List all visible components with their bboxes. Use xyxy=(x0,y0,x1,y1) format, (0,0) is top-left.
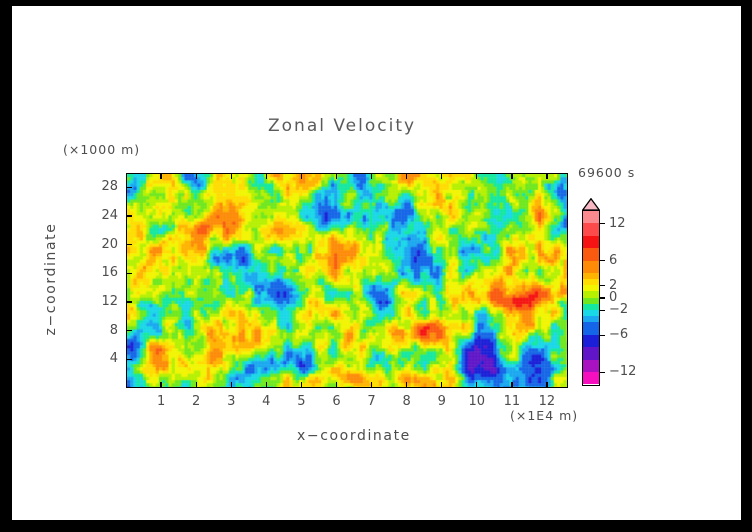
colorbar-tick-label: 6 xyxy=(609,253,617,268)
colorbar-segment xyxy=(583,211,599,223)
x-tick-mark xyxy=(441,382,442,388)
colorbar-tick-mark xyxy=(600,223,605,224)
colorbar-segment xyxy=(583,347,599,359)
x-axis-title: x−coordinate xyxy=(297,428,411,444)
colorbar-segment xyxy=(583,322,599,334)
y-tick-label: 12 xyxy=(88,294,118,309)
x-tick-label: 3 xyxy=(216,394,246,409)
y-tick-label: 20 xyxy=(88,237,118,252)
colorbar-tick-label: −2 xyxy=(609,302,628,317)
figure-frame: Zonal Velocity (×1000 m) 69600 s 1234567… xyxy=(0,0,752,532)
colorbar-gradient xyxy=(582,210,600,386)
x-tick-mark xyxy=(511,382,512,388)
y-tick-mark xyxy=(126,359,132,360)
x-tick-mark-top xyxy=(441,173,442,179)
x-tick-label: 12 xyxy=(532,394,562,409)
colorbar-tick-mark xyxy=(600,297,605,298)
colorbar-segment xyxy=(583,335,599,347)
x-tick-label: 5 xyxy=(286,394,316,409)
y-tick-mark xyxy=(126,330,132,331)
x-tick-mark-top xyxy=(160,173,161,179)
y-axis-title: z−coordinate xyxy=(43,209,59,349)
x-tick-label: 6 xyxy=(321,394,351,409)
y-tick-mark xyxy=(126,301,132,302)
x-tick-mark-top xyxy=(301,173,302,179)
x-tick-mark xyxy=(196,382,197,388)
x-tick-mark xyxy=(336,382,337,388)
colorbar-segment xyxy=(583,360,599,372)
x-tick-mark-top xyxy=(266,173,267,179)
velocity-field-image xyxy=(127,174,567,387)
colorbar-tick-label: −12 xyxy=(609,364,636,379)
x-tick-mark xyxy=(371,382,372,388)
colorbar-tick-mark xyxy=(600,260,605,261)
x-tick-label: 10 xyxy=(462,394,492,409)
x-tick-label: 2 xyxy=(181,394,211,409)
figure-canvas: Zonal Velocity (×1000 m) 69600 s 1234567… xyxy=(12,6,741,520)
x-tick-mark-top xyxy=(336,173,337,179)
colorbar-segment xyxy=(583,261,599,273)
y-tick-label: 16 xyxy=(88,265,118,280)
x-tick-mark-top xyxy=(406,173,407,179)
x-tick-mark-top xyxy=(476,173,477,179)
x-axis-unit-label: (×1E4 m) xyxy=(510,408,578,423)
x-tick-label: 11 xyxy=(497,394,527,409)
x-tick-mark xyxy=(160,382,161,388)
x-tick-mark xyxy=(406,382,407,388)
colorbar-tick-mark xyxy=(600,335,605,336)
y-tick-mark xyxy=(126,273,132,274)
time-annotation: 69600 s xyxy=(578,165,635,180)
y-tick-label: 4 xyxy=(88,351,118,366)
colorbar-tick-mark xyxy=(600,285,605,286)
y-tick-mark xyxy=(126,215,132,216)
colorbar-tick-label: −6 xyxy=(609,327,628,342)
x-tick-mark xyxy=(266,382,267,388)
x-tick-label: 9 xyxy=(427,394,457,409)
x-tick-label: 8 xyxy=(392,394,422,409)
page-title: Zonal Velocity xyxy=(268,116,416,136)
x-tick-label: 7 xyxy=(357,394,387,409)
colorbar-tick-label: 12 xyxy=(609,216,626,231)
y-tick-label: 8 xyxy=(88,323,118,338)
x-tick-mark-top xyxy=(511,173,512,179)
x-tick-mark xyxy=(546,382,547,388)
colorbar-tick-mark xyxy=(600,310,605,311)
x-tick-mark xyxy=(301,382,302,388)
x-tick-mark-top xyxy=(231,173,232,179)
colorbar-segment xyxy=(583,223,599,235)
colorbar-segment xyxy=(583,248,599,260)
x-tick-mark-top xyxy=(196,173,197,179)
colorbar-segment xyxy=(583,372,599,384)
x-tick-mark xyxy=(476,382,477,388)
x-tick-mark-top xyxy=(371,173,372,179)
x-tick-mark xyxy=(231,382,232,388)
heatmap-plot-area xyxy=(126,173,568,388)
x-tick-label: 4 xyxy=(251,394,281,409)
y-tick-mark xyxy=(126,244,132,245)
y-tick-label: 28 xyxy=(88,179,118,194)
y-tick-mark xyxy=(126,187,132,188)
y-tick-label: 24 xyxy=(88,208,118,223)
y-axis-unit-label: (×1000 m) xyxy=(63,142,140,157)
colorbar-tick-mark xyxy=(600,372,605,373)
x-tick-label: 1 xyxy=(146,394,176,409)
colorbar-segment xyxy=(583,236,599,248)
x-tick-mark-top xyxy=(546,173,547,179)
